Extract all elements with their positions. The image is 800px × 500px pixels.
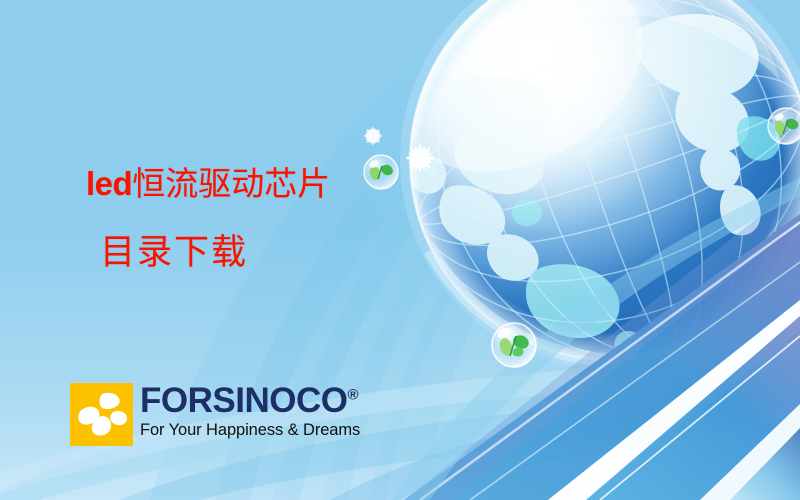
continent-north-america: [635, 14, 761, 235]
city-skyline: [655, 182, 800, 314]
green-sprout-icon: [773, 117, 800, 137]
bubble-sprout-top: [364, 155, 398, 189]
continent-detail: [512, 116, 781, 226]
globe-latitude-lines: [371, 0, 800, 372]
headline-line-1: led恒流驱动芯片: [86, 163, 330, 205]
company-logo: FORSINOCO® For Your Happiness & Dreams: [70, 383, 360, 446]
globe-longitude-lines: [388, 0, 800, 402]
continent-australia: [526, 264, 642, 356]
bubble-sprout-right: [768, 108, 800, 144]
headline-cjk: 恒流驱动芯片: [132, 164, 330, 203]
green-sprout-icon: [498, 333, 531, 357]
logo-wordmark-text: FORSINOCO: [140, 381, 347, 420]
sparkle-large: [406, 144, 434, 172]
sparkle-small: [364, 127, 382, 145]
logo-mark: [70, 383, 133, 446]
ribbon-tail-curve: [392, 178, 800, 500]
logo-text-block: FORSINOCO® For Your Happiness & Dreams: [140, 384, 360, 440]
pinwheel-flower-icon: [70, 383, 133, 446]
promo-banner: led恒流驱动芯片 目录下载 FORSINOCO® For Your Happi…: [0, 0, 800, 500]
green-sprout-icon: [368, 163, 395, 181]
headline-latin: led: [86, 165, 132, 202]
logo-tagline: For Your Happiness & Dreams: [140, 421, 360, 440]
headline-line-2: 目录下载: [100, 231, 330, 276]
continent-asia: [407, 76, 553, 280]
skyline-fade: [640, 314, 800, 340]
earth-globe: [362, 0, 800, 402]
registered-trademark-icon: ®: [347, 386, 358, 403]
bubble-sprout-mid: [492, 323, 536, 367]
diagonal-ribbons: [404, 184, 800, 500]
headline-block: led恒流驱动芯片 目录下载: [86, 163, 330, 276]
logo-wordmark: FORSINOCO®: [140, 384, 360, 418]
